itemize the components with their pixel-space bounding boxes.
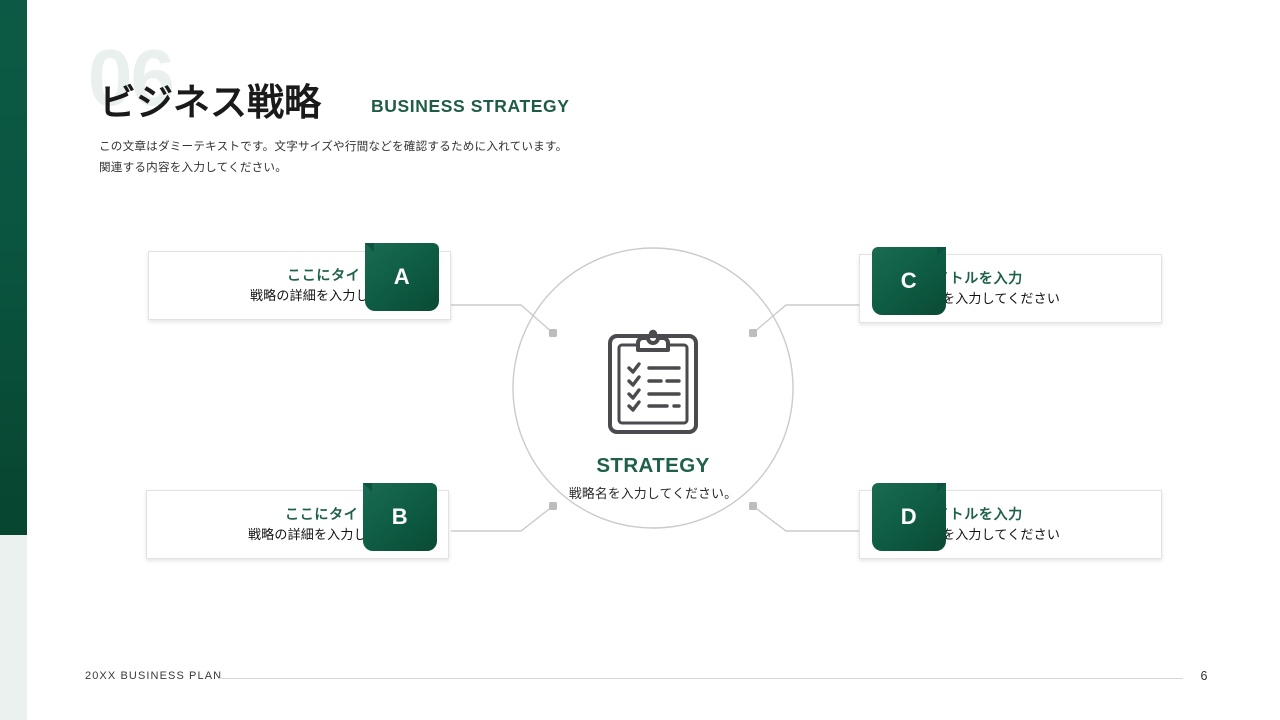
card-b-badge-label: B	[392, 504, 408, 530]
card-a-badge[interactable]: A	[365, 243, 439, 311]
center-hub: STRATEGY 戦略名を入力してください。	[513, 248, 793, 528]
card-c-badge-label: C	[901, 268, 917, 294]
footer-label: 20XX BUSINESS PLAN	[85, 670, 222, 682]
card-b-badge[interactable]: B	[363, 483, 437, 551]
lead-line-1: この文章はダミーテキストです。文字サイズや行間などを確認するために入れています。	[99, 136, 567, 157]
center-title: STRATEGY	[513, 454, 793, 478]
footer-divider	[218, 678, 1183, 679]
page-number: 6	[1192, 669, 1216, 683]
slide-canvas: 06 ビジネス戦略 BUSINESS STRATEGY この文章はダミーテキスト…	[0, 0, 1280, 720]
center-subtitle: 戦略名を入力してください。	[513, 483, 793, 502]
left-accent-bar-top	[0, 0, 27, 535]
left-accent-bar-bottom	[0, 535, 27, 720]
clipboard-checklist-icon	[605, 324, 701, 441]
card-c-badge[interactable]: C	[872, 247, 946, 315]
card-d-badge-label: D	[901, 504, 917, 530]
card-a-badge-label: A	[394, 264, 410, 290]
lead-paragraph: この文章はダミーテキストです。文字サイズや行間などを確認するために入れています。…	[99, 136, 567, 178]
page-subtitle-english: BUSINESS STRATEGY	[371, 96, 570, 117]
page-title: ビジネス戦略	[99, 83, 321, 124]
card-d-badge[interactable]: D	[872, 483, 946, 551]
lead-line-2: 関連する内容を入力してください。	[99, 157, 567, 178]
